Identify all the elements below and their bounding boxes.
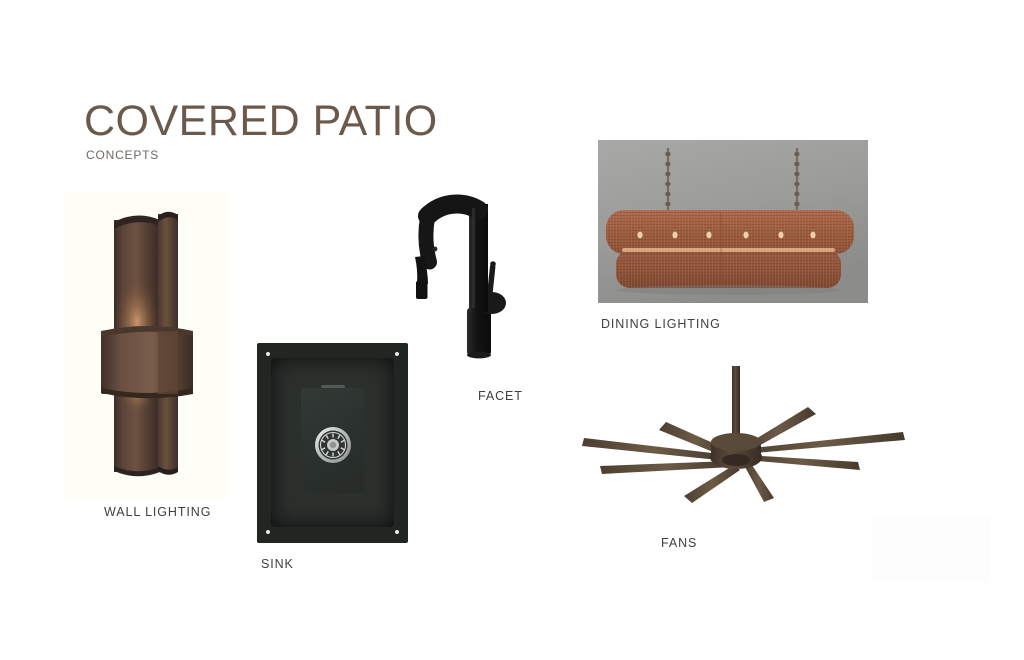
ceiling-fan-icon [560,362,920,512]
sink-mount-hole [395,530,399,534]
sink-mount-hole [266,530,270,534]
wall-sconce-icon [65,192,228,498]
sink-drain-icon [314,426,352,464]
wall-lighting-image [65,192,228,498]
faucet-image [410,148,540,376]
dining-lighting-image [598,140,868,303]
fans-image [560,362,920,512]
sink-mount-hole [266,352,270,356]
sink-body [257,343,408,543]
page-subtitle: CONCEPTS [86,148,159,162]
fans-caption: FANS [661,536,697,550]
sink-caption: SINK [261,557,294,571]
page-title: COVERED PATIO [84,100,438,143]
watermark-box [872,516,990,582]
faucet-caption: FACET [478,389,523,403]
wall-lighting-caption: WALL LIGHTING [104,505,211,519]
linear-pendant-icon [598,140,868,303]
concept-board: COVERED PATIO CONCEPTS [0,0,1024,660]
sink-image [257,343,408,543]
faucet-icon [410,148,540,376]
sink-mount-hole [395,352,399,356]
dining-lighting-caption: DINING LIGHTING [601,317,721,331]
